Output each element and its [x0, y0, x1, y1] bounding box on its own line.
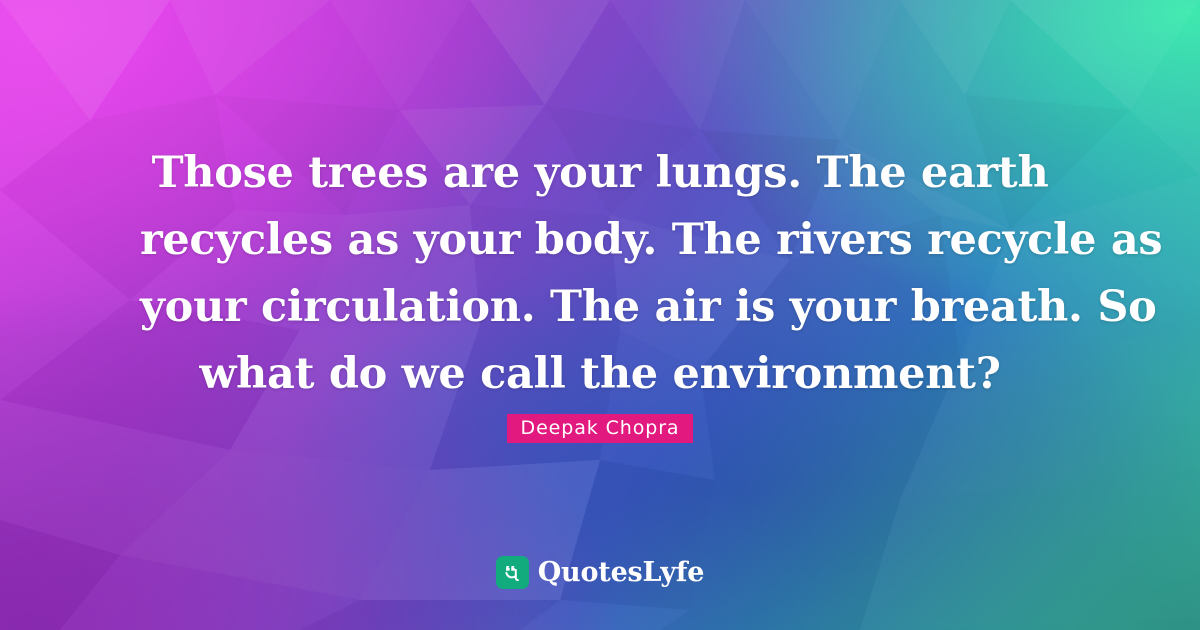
brand-logo[interactable]: QuotesLyfe — [0, 556, 1200, 589]
author-row: Deepak Chopra — [0, 414, 1200, 443]
quote-text-block: Those trees are your lungs. The earth re… — [0, 140, 1200, 408]
author-name-badge[interactable]: Deepak Chopra — [507, 414, 694, 443]
brand-name: QuotesLyfe — [538, 556, 705, 589]
quote-line: what do we call the environment? — [140, 341, 1060, 408]
quote-line: your circulation. The air is your breath… — [140, 274, 1060, 341]
quote-smiley-icon — [496, 556, 529, 589]
quote-card: Those trees are your lungs. The earth re… — [0, 0, 1200, 630]
quote-line: recycles as your body. The rivers recycl… — [140, 207, 1060, 274]
quote-line: Those trees are your lungs. The earth — [140, 140, 1060, 207]
